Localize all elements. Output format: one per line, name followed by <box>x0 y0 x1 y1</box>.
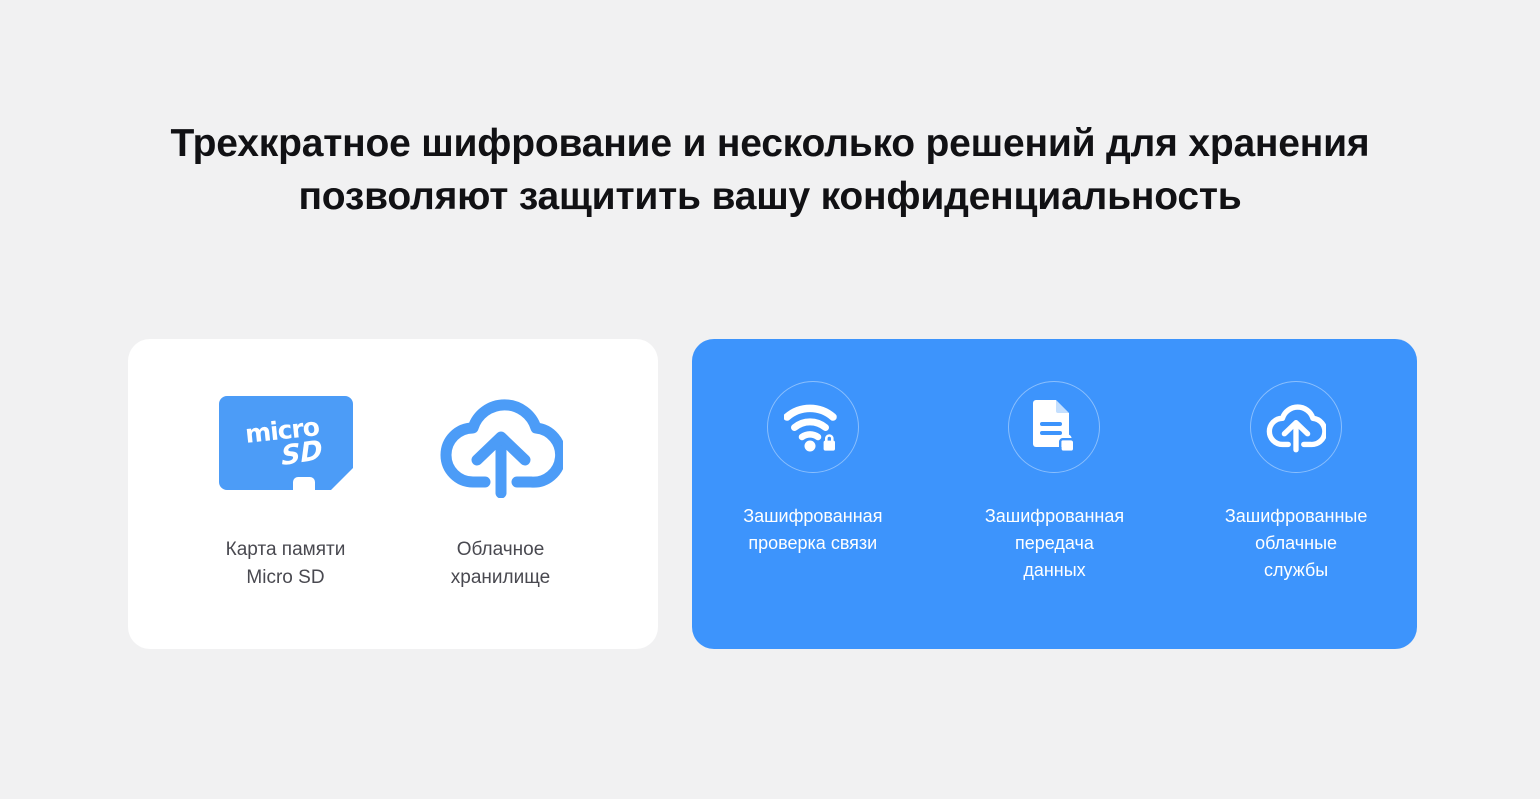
page-root: Трехкратное шифрование и несколько решен… <box>0 0 1540 799</box>
microsd-icon-container: micro SD <box>219 392 353 500</box>
encryption-item-cloud[interactable]: Зашифрованные облачные службы <box>1196 381 1396 584</box>
storage-options-card: micro SD Карта памяти Micro SD <box>128 339 658 649</box>
encryption-item-connection-label: Зашифрованная проверка связи <box>743 503 882 557</box>
storage-item-microsd[interactable]: micro SD Карта памяти Micro SD <box>178 392 393 592</box>
cloud-icon-container <box>439 392 563 500</box>
encryption-item-transfer-label: Зашифрованная передача данных <box>985 503 1124 584</box>
encryption-features-card: Зашифрованная проверка связи <box>692 339 1417 649</box>
storage-options-list: micro SD Карта памяти Micro SD <box>128 339 658 649</box>
cloud-upload-lock-circle <box>1250 381 1342 473</box>
cloud-upload-icon <box>439 394 563 498</box>
encryption-item-cloud-label: Зашифрованные облачные службы <box>1225 503 1367 584</box>
storage-item-cloud[interactable]: Облачное хранилище <box>393 392 608 592</box>
cloud-upload-lock-icon <box>1266 401 1326 453</box>
page-title: Трехкратное шифрование и несколько решен… <box>170 117 1370 223</box>
document-lock-circle <box>1008 381 1100 473</box>
encryption-item-connection[interactable]: Зашифрованная проверка связи <box>713 381 913 557</box>
encryption-item-transfer[interactable]: Зашифрованная передача данных <box>954 381 1154 584</box>
wifi-lock-circle <box>767 381 859 473</box>
storage-item-cloud-label: Облачное хранилище <box>451 536 550 592</box>
document-lock-icon <box>1029 400 1079 454</box>
storage-item-microsd-label: Карта памяти Micro SD <box>226 536 346 592</box>
wifi-lock-icon <box>784 402 842 452</box>
encryption-features-list: Зашифрованная проверка связи <box>692 339 1417 649</box>
microsd-card-icon: micro SD <box>219 396 353 496</box>
